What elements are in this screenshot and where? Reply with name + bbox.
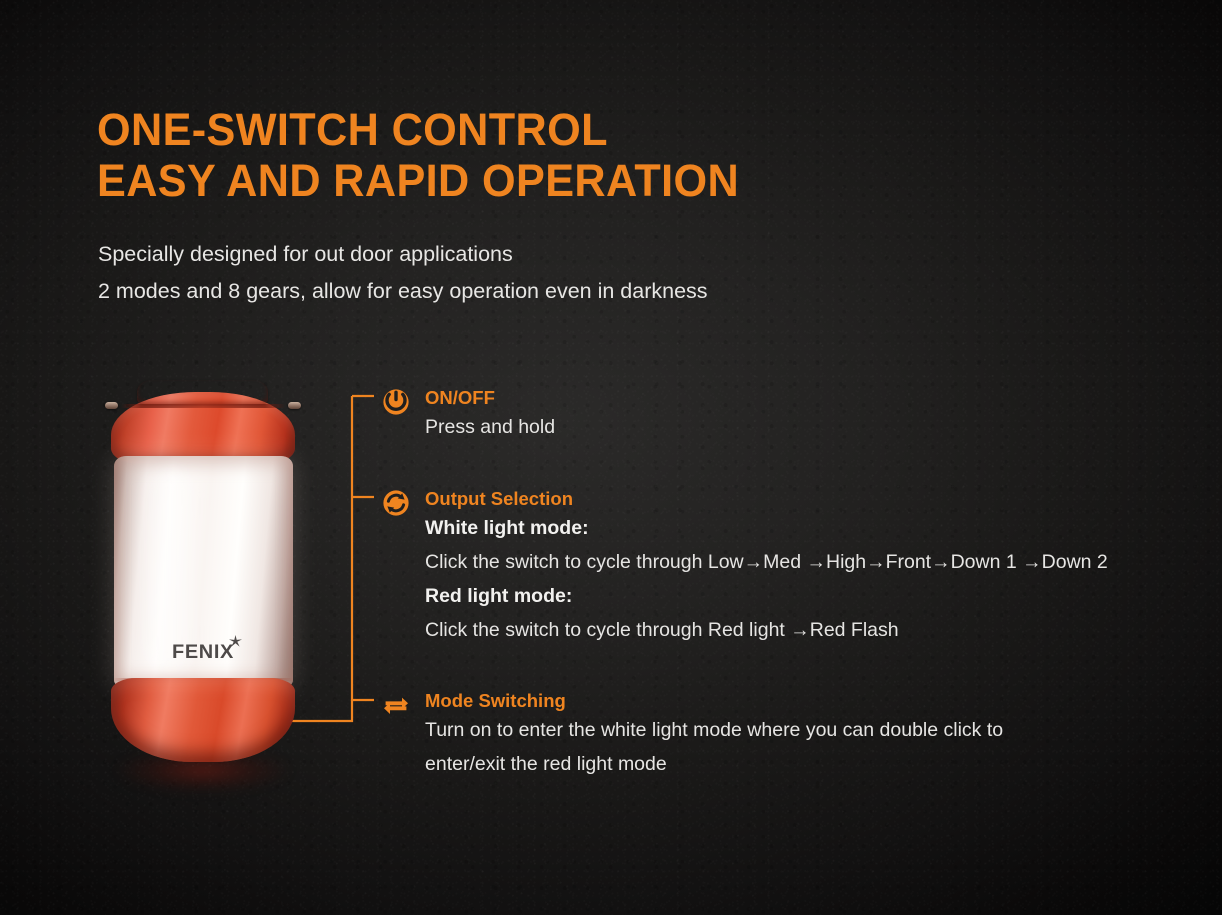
feature-mode-switching: Mode Switching Turn on to enter the whit…	[382, 689, 1065, 781]
feature-output-selection-body: Output Selection White light mode: Click…	[425, 487, 1108, 647]
feature-on-off-text: Press and hold	[425, 410, 555, 444]
headline-block: ONE-SWITCH CONTROL EASY AND RAPID OPERAT…	[97, 104, 877, 206]
feature-output-selection: Output Selection White light mode: Click…	[382, 487, 1108, 647]
lantern-cap-groove	[121, 404, 285, 408]
subheading-line-1: Specially designed for out door applicat…	[98, 236, 918, 273]
white-light-mode-label: White light mode:	[425, 511, 1108, 545]
exchange-arrows-icon	[382, 691, 410, 719]
feature-on-off-body: ON/OFF Press and hold	[425, 386, 555, 444]
cycle-refresh-icon	[382, 489, 410, 517]
feature-on-off: ON/OFF Press and hold	[382, 386, 555, 444]
fenix-logo: FENIX	[153, 640, 253, 666]
hanging-hook-left	[105, 402, 118, 409]
white-light-mode-text: Click the switch to cycle through Low→Me…	[425, 545, 1108, 579]
lantern-cap-plate	[137, 380, 268, 405]
fenix-star-icon	[229, 635, 242, 648]
product-image-lantern: FENIX	[103, 378, 303, 778]
feature-mode-switching-body: Mode Switching Turn on to enter the whit…	[425, 689, 1065, 781]
power-icon	[382, 388, 410, 416]
feature-mode-switching-title: Mode Switching	[425, 689, 1065, 713]
infographic-page: ONE-SWITCH CONTROL EASY AND RAPID OPERAT…	[0, 0, 1222, 915]
subheading-line-2: 2 modes and 8 gears, allow for easy oper…	[98, 273, 918, 310]
feature-output-selection-title: Output Selection	[425, 487, 1108, 511]
feature-on-off-title: ON/OFF	[425, 386, 555, 410]
subheading-block: Specially designed for out door applicat…	[98, 236, 918, 310]
red-light-mode-label: Red light mode:	[425, 579, 1108, 613]
feature-mode-switching-text: Turn on to enter the white light mode wh…	[425, 713, 1065, 781]
headline-line-1: ONE-SWITCH CONTROL	[97, 104, 846, 155]
hanging-hook-right	[288, 402, 301, 409]
red-light-mode-text: Click the switch to cycle through Red li…	[425, 613, 1108, 647]
headline-line-2: EASY AND RAPID OPERATION	[97, 155, 846, 206]
